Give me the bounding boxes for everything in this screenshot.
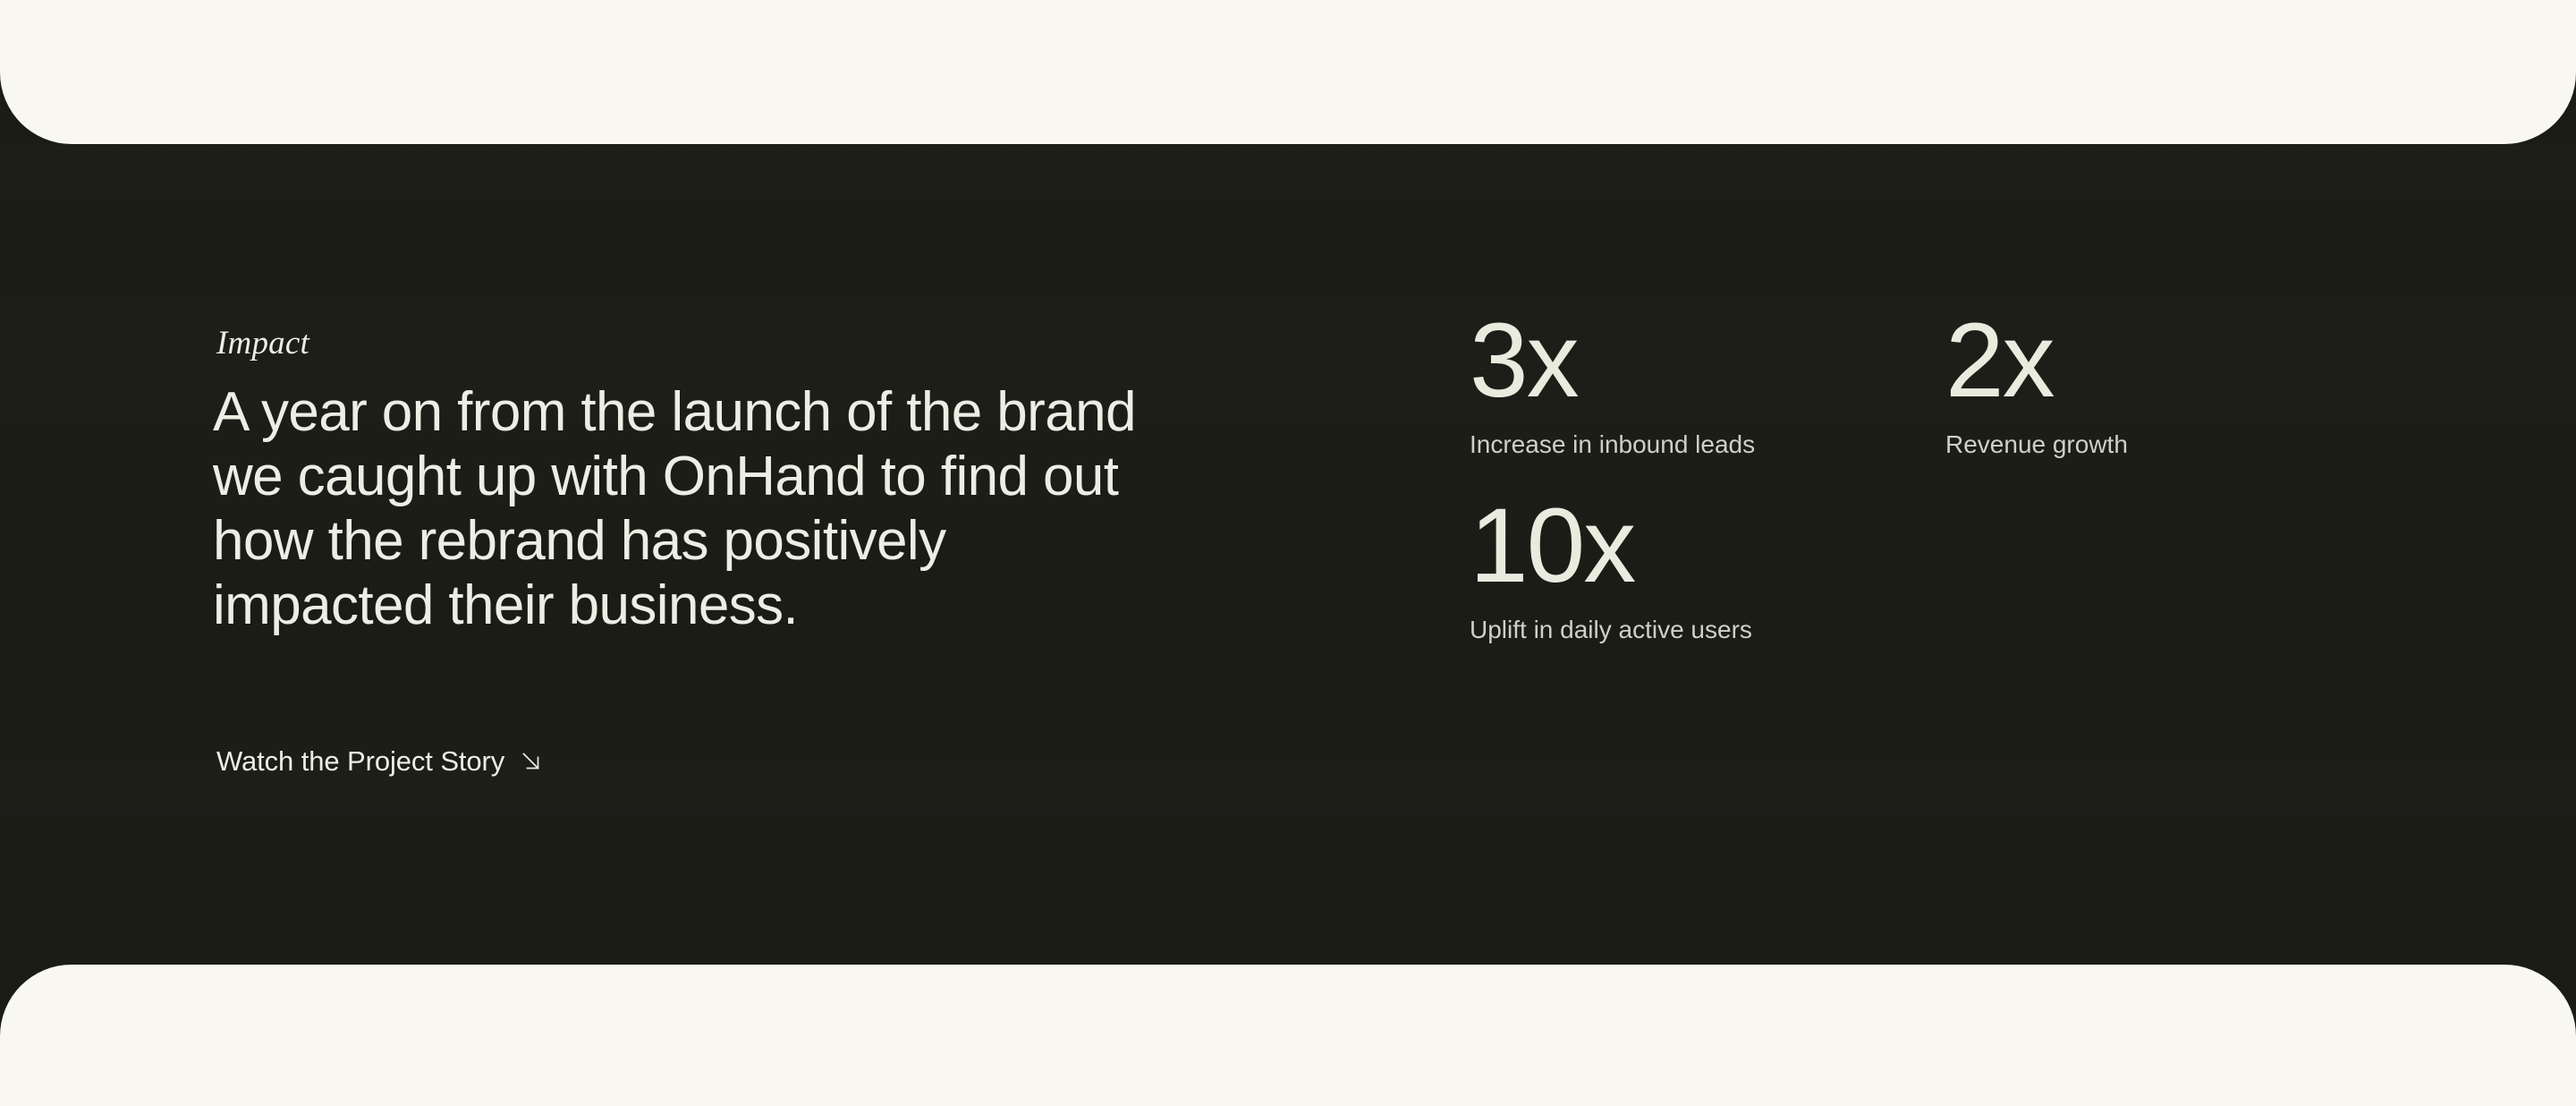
stat-value: 2x <box>1945 307 2128 414</box>
panel-below <box>0 965 2576 1106</box>
impact-stats-grid: 3x Increase in inbound leads 2x Revenue … <box>1470 144 2364 965</box>
panel-above <box>0 0 2576 144</box>
arrow-down-right-icon <box>520 750 543 773</box>
impact-section: Impact A year on from the launch of the … <box>0 0 2576 1106</box>
stat-card-inbound-leads: 3x Increase in inbound leads <box>1470 307 1755 460</box>
impact-content: Impact A year on from the launch of the … <box>0 144 2576 965</box>
stat-card-daily-active-users: 10x Uplift in daily active users <box>1470 492 1752 645</box>
watch-project-story-label: Watch the Project Story <box>216 747 504 775</box>
page-title: A year on from the launch of the brand w… <box>213 380 1268 638</box>
eyebrow-label: Impact <box>216 327 309 360</box>
stat-value: 10x <box>1470 492 1752 600</box>
watch-project-story-link[interactable]: Watch the Project Story <box>216 747 543 775</box>
stat-card-revenue-growth: 2x Revenue growth <box>1945 307 2128 460</box>
stat-label: Uplift in daily active users <box>1470 615 1752 645</box>
stat-label: Revenue growth <box>1945 430 2128 460</box>
stat-value: 3x <box>1470 307 1755 414</box>
stat-label: Increase in inbound leads <box>1470 430 1755 460</box>
